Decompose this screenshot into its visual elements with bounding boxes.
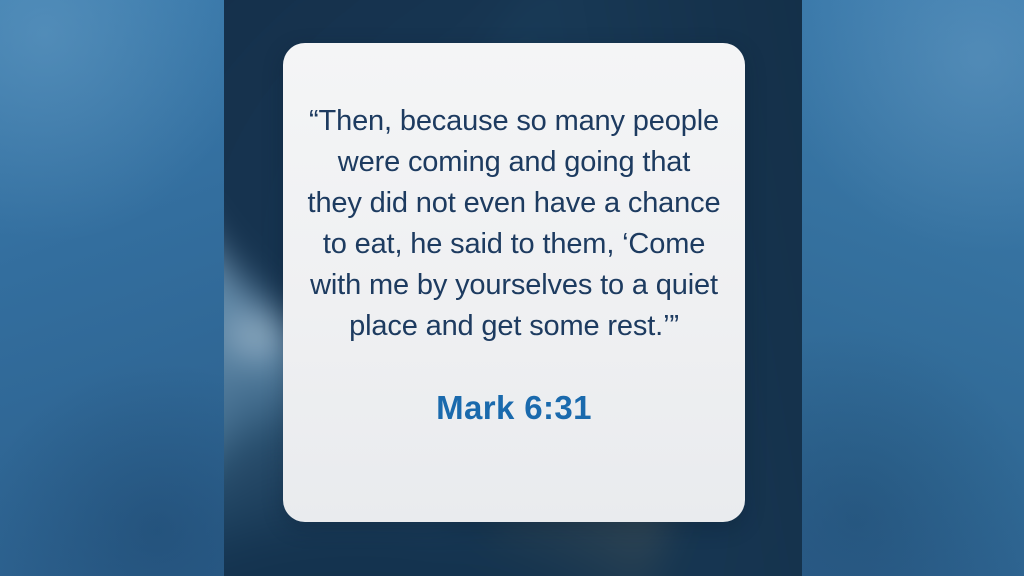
quote-text: “Then, because so many people were comin…	[301, 101, 727, 347]
quote-card: “Then, because so many people were comin…	[283, 43, 745, 522]
video-frame: “Then, because so many people were comin…	[224, 0, 802, 576]
letterbox-bar-right	[801, 0, 1024, 576]
quote-line-5: with me by yourselves to a quiet	[301, 265, 727, 306]
scripture-citation: Mark 6:31	[436, 389, 592, 427]
screenshot-stage: “Then, because so many people were comin…	[0, 0, 1024, 576]
quote-line-6: place and get some rest.’”	[301, 306, 727, 347]
quote-line-2: were coming and going that	[301, 142, 727, 183]
quote-line-3: they did not even have a chance	[301, 183, 727, 224]
letterbox-bar-left	[0, 0, 224, 576]
quote-line-1: “Then, because so many people	[301, 101, 727, 142]
quote-line-4: to eat, he said to them, ‘Come	[301, 224, 727, 265]
